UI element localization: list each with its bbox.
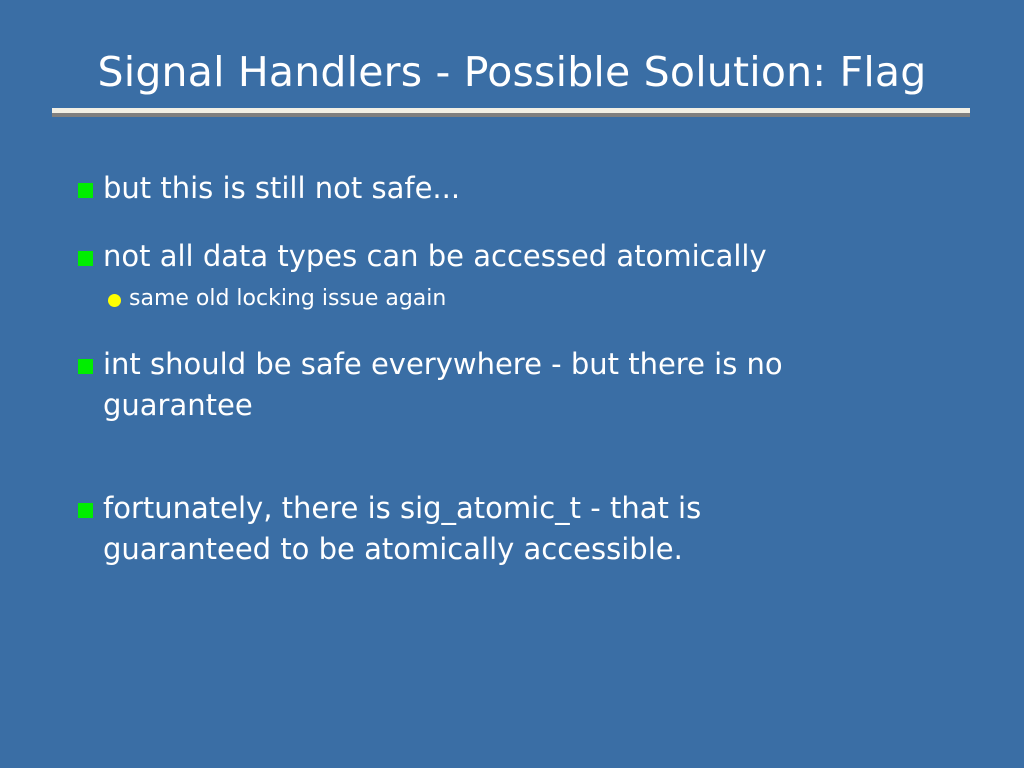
slide-title-block: Signal Handlers - Possible Solution: Fla… [52,47,972,119]
bullet-item: not all data types can be accessed atomi… [78,236,878,277]
yellow-circle-bullet-icon [108,294,121,307]
green-square-bullet-icon [78,503,93,518]
green-square-bullet-icon [78,359,93,374]
bullet-text: fortunately, there is sig_atomic_t - tha… [103,488,843,570]
bullet-text: but this is still not safe... [103,168,460,209]
bullet-item: int should be safe everywhere - but ther… [78,344,878,426]
title-underline-rule [52,108,970,113]
green-square-bullet-icon [78,183,93,198]
green-square-bullet-icon [78,251,93,266]
bullet-text: not all data types can be accessed atomi… [103,236,767,277]
page-title: Signal Handlers - Possible Solution: Fla… [52,47,972,97]
bullet-item: but this is still not safe... [78,168,878,209]
bullet-item: fortunately, there is sig_atomic_t - tha… [78,488,878,570]
sub-bullet-text: same old locking issue again [129,283,446,314]
bullet-spacer [78,453,878,488]
presentation-slide: Signal Handlers - Possible Solution: Fla… [0,0,1024,768]
slide-body: but this is still not safe... not all da… [78,168,878,597]
sub-bullet-item: same old locking issue again [108,283,878,314]
bullet-text: int should be safe everywhere - but ther… [103,344,843,426]
